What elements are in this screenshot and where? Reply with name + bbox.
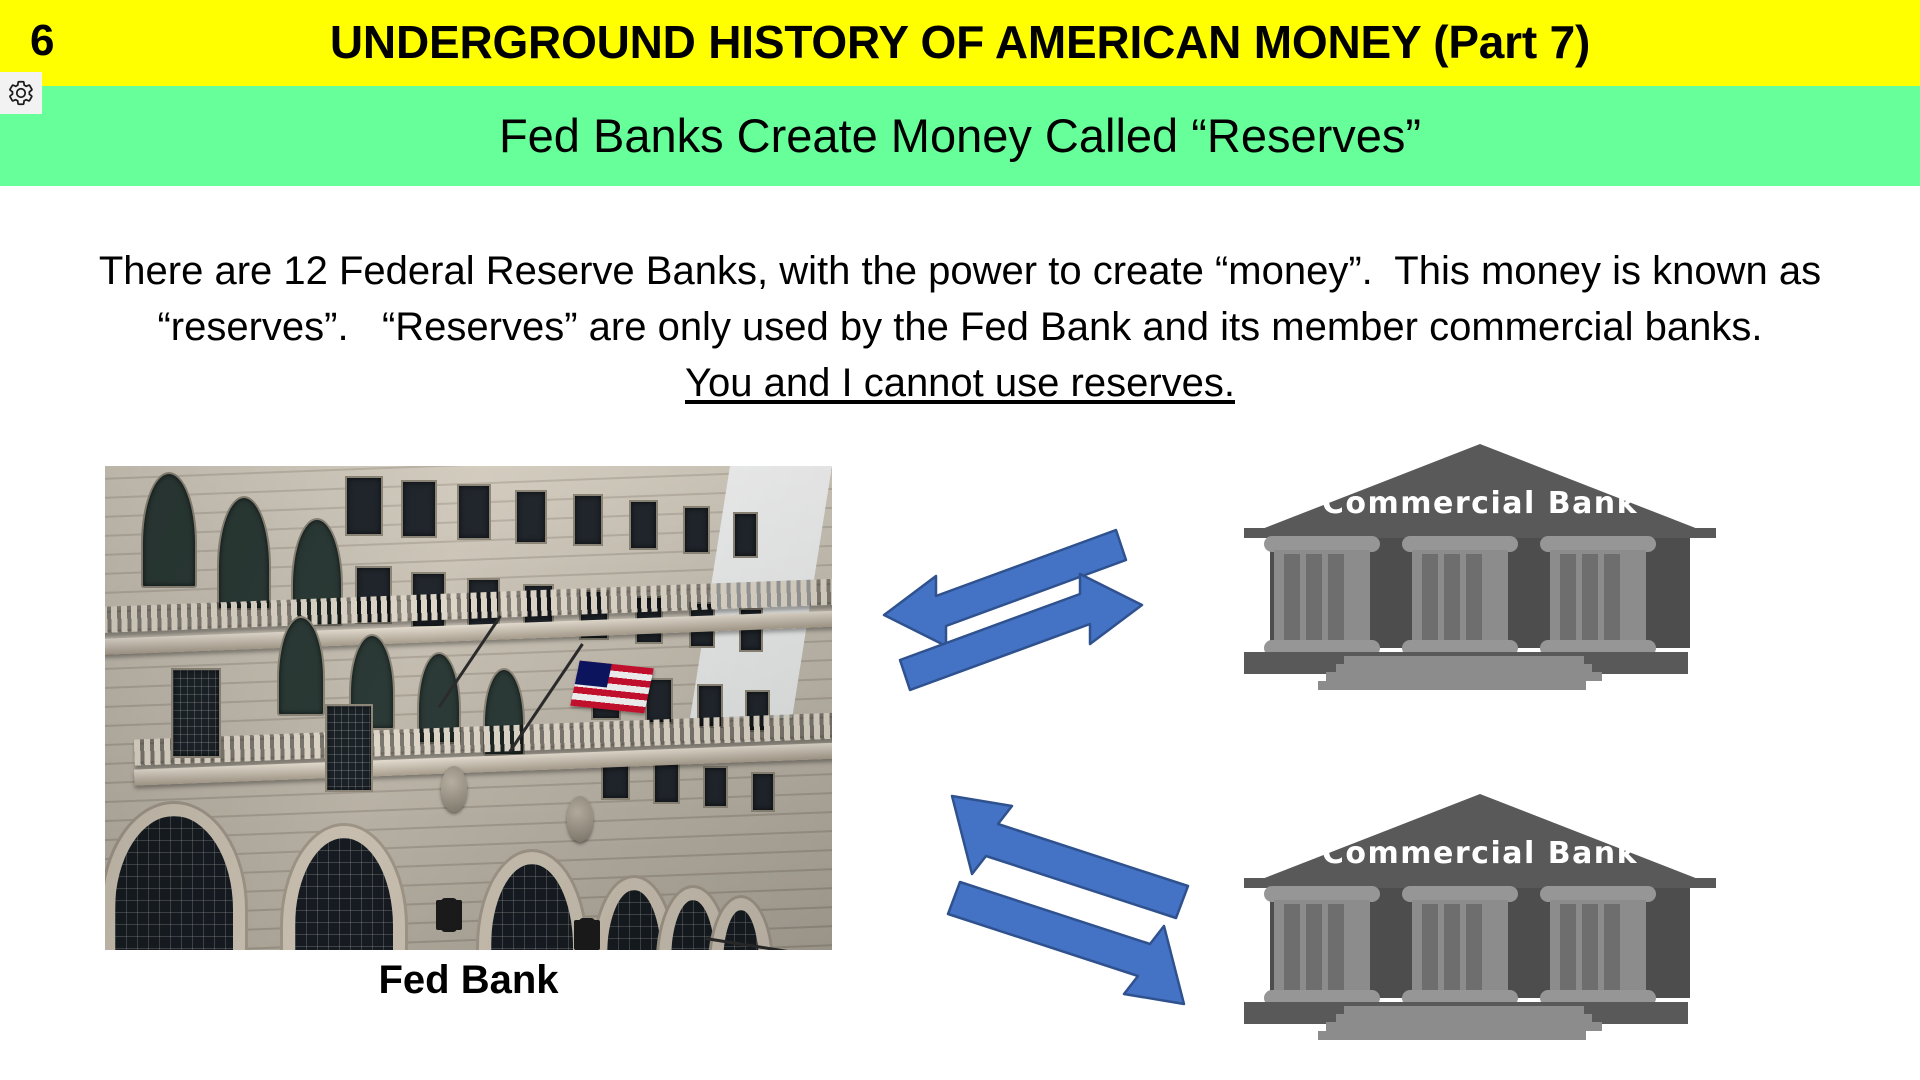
bank-step xyxy=(1326,1022,1602,1031)
body-line-1: There are 12 Federal Reserve Banks, with… xyxy=(20,243,1900,299)
bank-columns xyxy=(1264,536,1656,656)
title-bar: 6 UNDERGROUND HISTORY OF AMERICAN MONEY … xyxy=(0,0,1920,86)
fed-bank-photo xyxy=(105,466,832,950)
bank-step xyxy=(1336,1014,1592,1022)
bank-step xyxy=(1336,664,1592,672)
page-title: UNDERGROUND HISTORY OF AMERICAN MONEY (P… xyxy=(0,2,1920,82)
body-line-2: “reserves”. “Reserves” are only used by … xyxy=(20,299,1900,355)
commercial-bank-label-2: Commercial Bank xyxy=(1240,836,1720,871)
bank-step xyxy=(1326,672,1602,681)
window xyxy=(733,512,758,558)
window xyxy=(345,476,383,536)
commercial-bank-label-1: Commercial Bank xyxy=(1240,486,1720,521)
bank-step xyxy=(1318,681,1586,690)
facade-medallion xyxy=(441,766,467,812)
wall-lantern xyxy=(579,918,595,950)
barred-window xyxy=(171,668,221,758)
fed-bank-caption: Fed Bank xyxy=(105,958,832,1003)
upper-arrow-pair xyxy=(880,520,1200,720)
subtitle-bar: Fed Banks Create Money Called “Reserves” xyxy=(0,86,1920,186)
barred-window xyxy=(325,704,373,792)
commercial-bank-icon-1: Commercial Bank xyxy=(1240,440,1720,690)
facade-medallion xyxy=(567,796,593,842)
window xyxy=(751,772,775,812)
window xyxy=(457,484,491,540)
american-flag-icon xyxy=(570,661,654,714)
bank-step xyxy=(1344,656,1584,664)
gear-icon[interactable] xyxy=(0,72,42,114)
lower-arrow-pair xyxy=(938,782,1258,1022)
bank-columns xyxy=(1264,886,1656,1006)
window xyxy=(683,506,710,554)
wall-lantern xyxy=(441,898,457,932)
window xyxy=(515,490,547,544)
bank-step xyxy=(1318,1031,1586,1040)
window xyxy=(703,766,728,808)
commercial-bank-icon-2: Commercial Bank xyxy=(1240,790,1720,1040)
bank-step xyxy=(1344,1006,1584,1014)
subtitle: Fed Banks Create Money Called “Reserves” xyxy=(0,86,1920,186)
window xyxy=(401,480,437,538)
window xyxy=(653,760,680,804)
body-paragraph: There are 12 Federal Reserve Banks, with… xyxy=(20,243,1900,411)
window xyxy=(629,500,658,550)
body-line-3: You and I cannot use reserves. xyxy=(20,355,1900,411)
window xyxy=(573,494,603,546)
